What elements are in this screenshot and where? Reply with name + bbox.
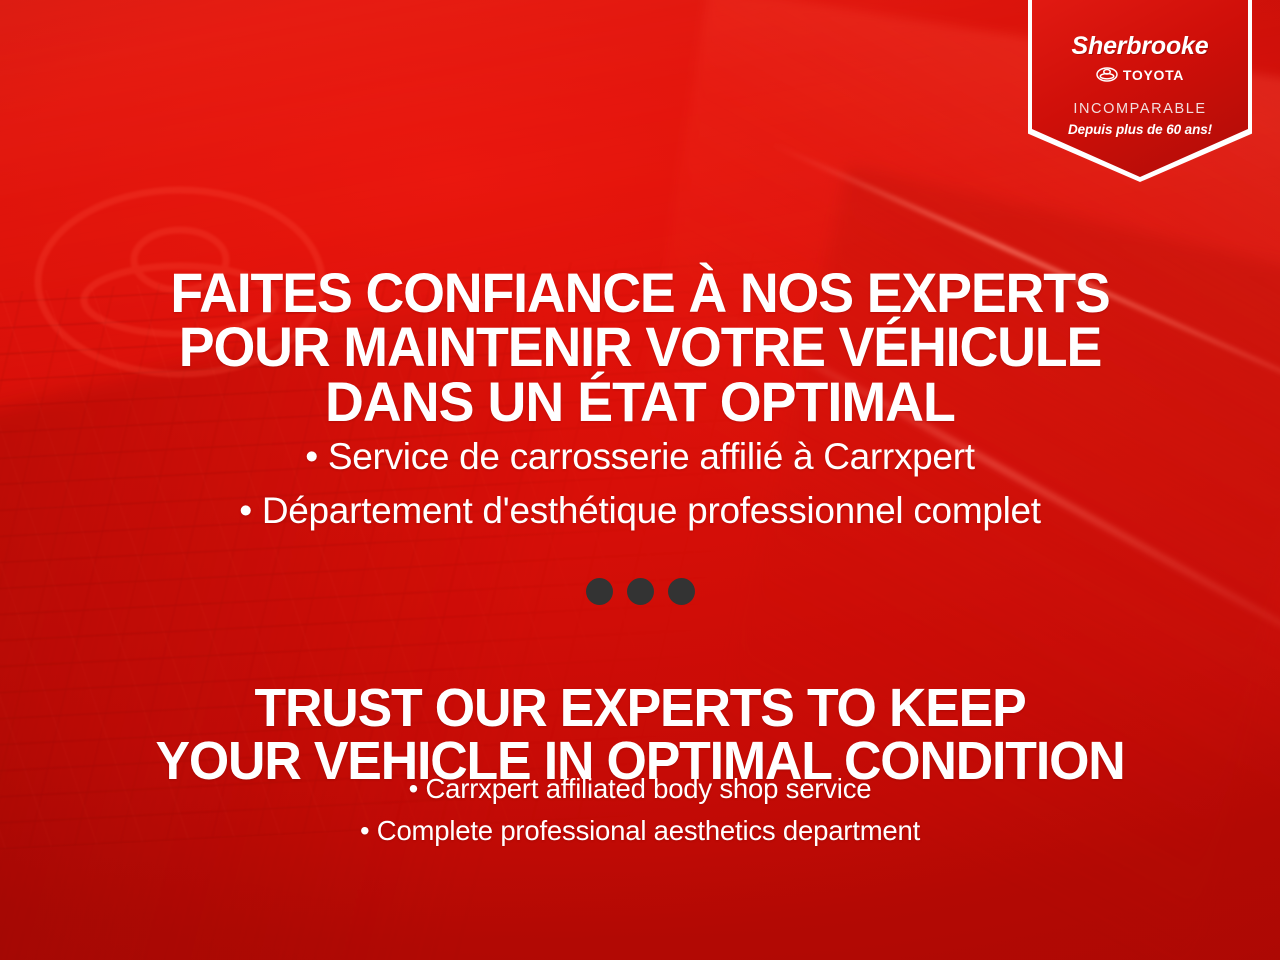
- bullet-item-french-2: • Département d'esthétique professionnel…: [0, 484, 1280, 538]
- bullet-list-english: • Carrxpert affiliated body shop service…: [0, 768, 1280, 852]
- headline-french-line-3: DANS UN ÉTAT OPTIMAL: [325, 370, 955, 433]
- divider-dot-3: [668, 578, 695, 605]
- headline-french-line-1: FAITES CONFIANCE À NOS EXPERTS: [170, 261, 1109, 324]
- promo-content: FAITES CONFIANCE À NOS EXPERTS POUR MAIN…: [0, 0, 1280, 960]
- headline-french: FAITES CONFIANCE À NOS EXPERTS POUR MAIN…: [26, 266, 1255, 431]
- divider-dots: [0, 578, 1280, 605]
- promo-banner: Sherbrooke TOYOTA INCOMPARABLE Depuis pl…: [0, 0, 1280, 960]
- bullet-list-french: • Service de carrosserie affilié à Carrx…: [0, 430, 1280, 538]
- bullet-item-english-2: • Complete professional aesthetics depar…: [0, 810, 1280, 852]
- bullet-item-english-1: • Carrxpert affiliated body shop service: [0, 768, 1280, 810]
- headline-english-line-1: TRUST OUR EXPERTS TO KEEP: [255, 678, 1026, 738]
- bullet-item-french-1: • Service de carrosserie affilié à Carrx…: [0, 430, 1280, 484]
- headline-french-line-2: POUR MAINTENIR VOTRE VÉHICULE: [179, 315, 1101, 378]
- divider-dot-1: [586, 578, 613, 605]
- divider-dot-2: [627, 578, 654, 605]
